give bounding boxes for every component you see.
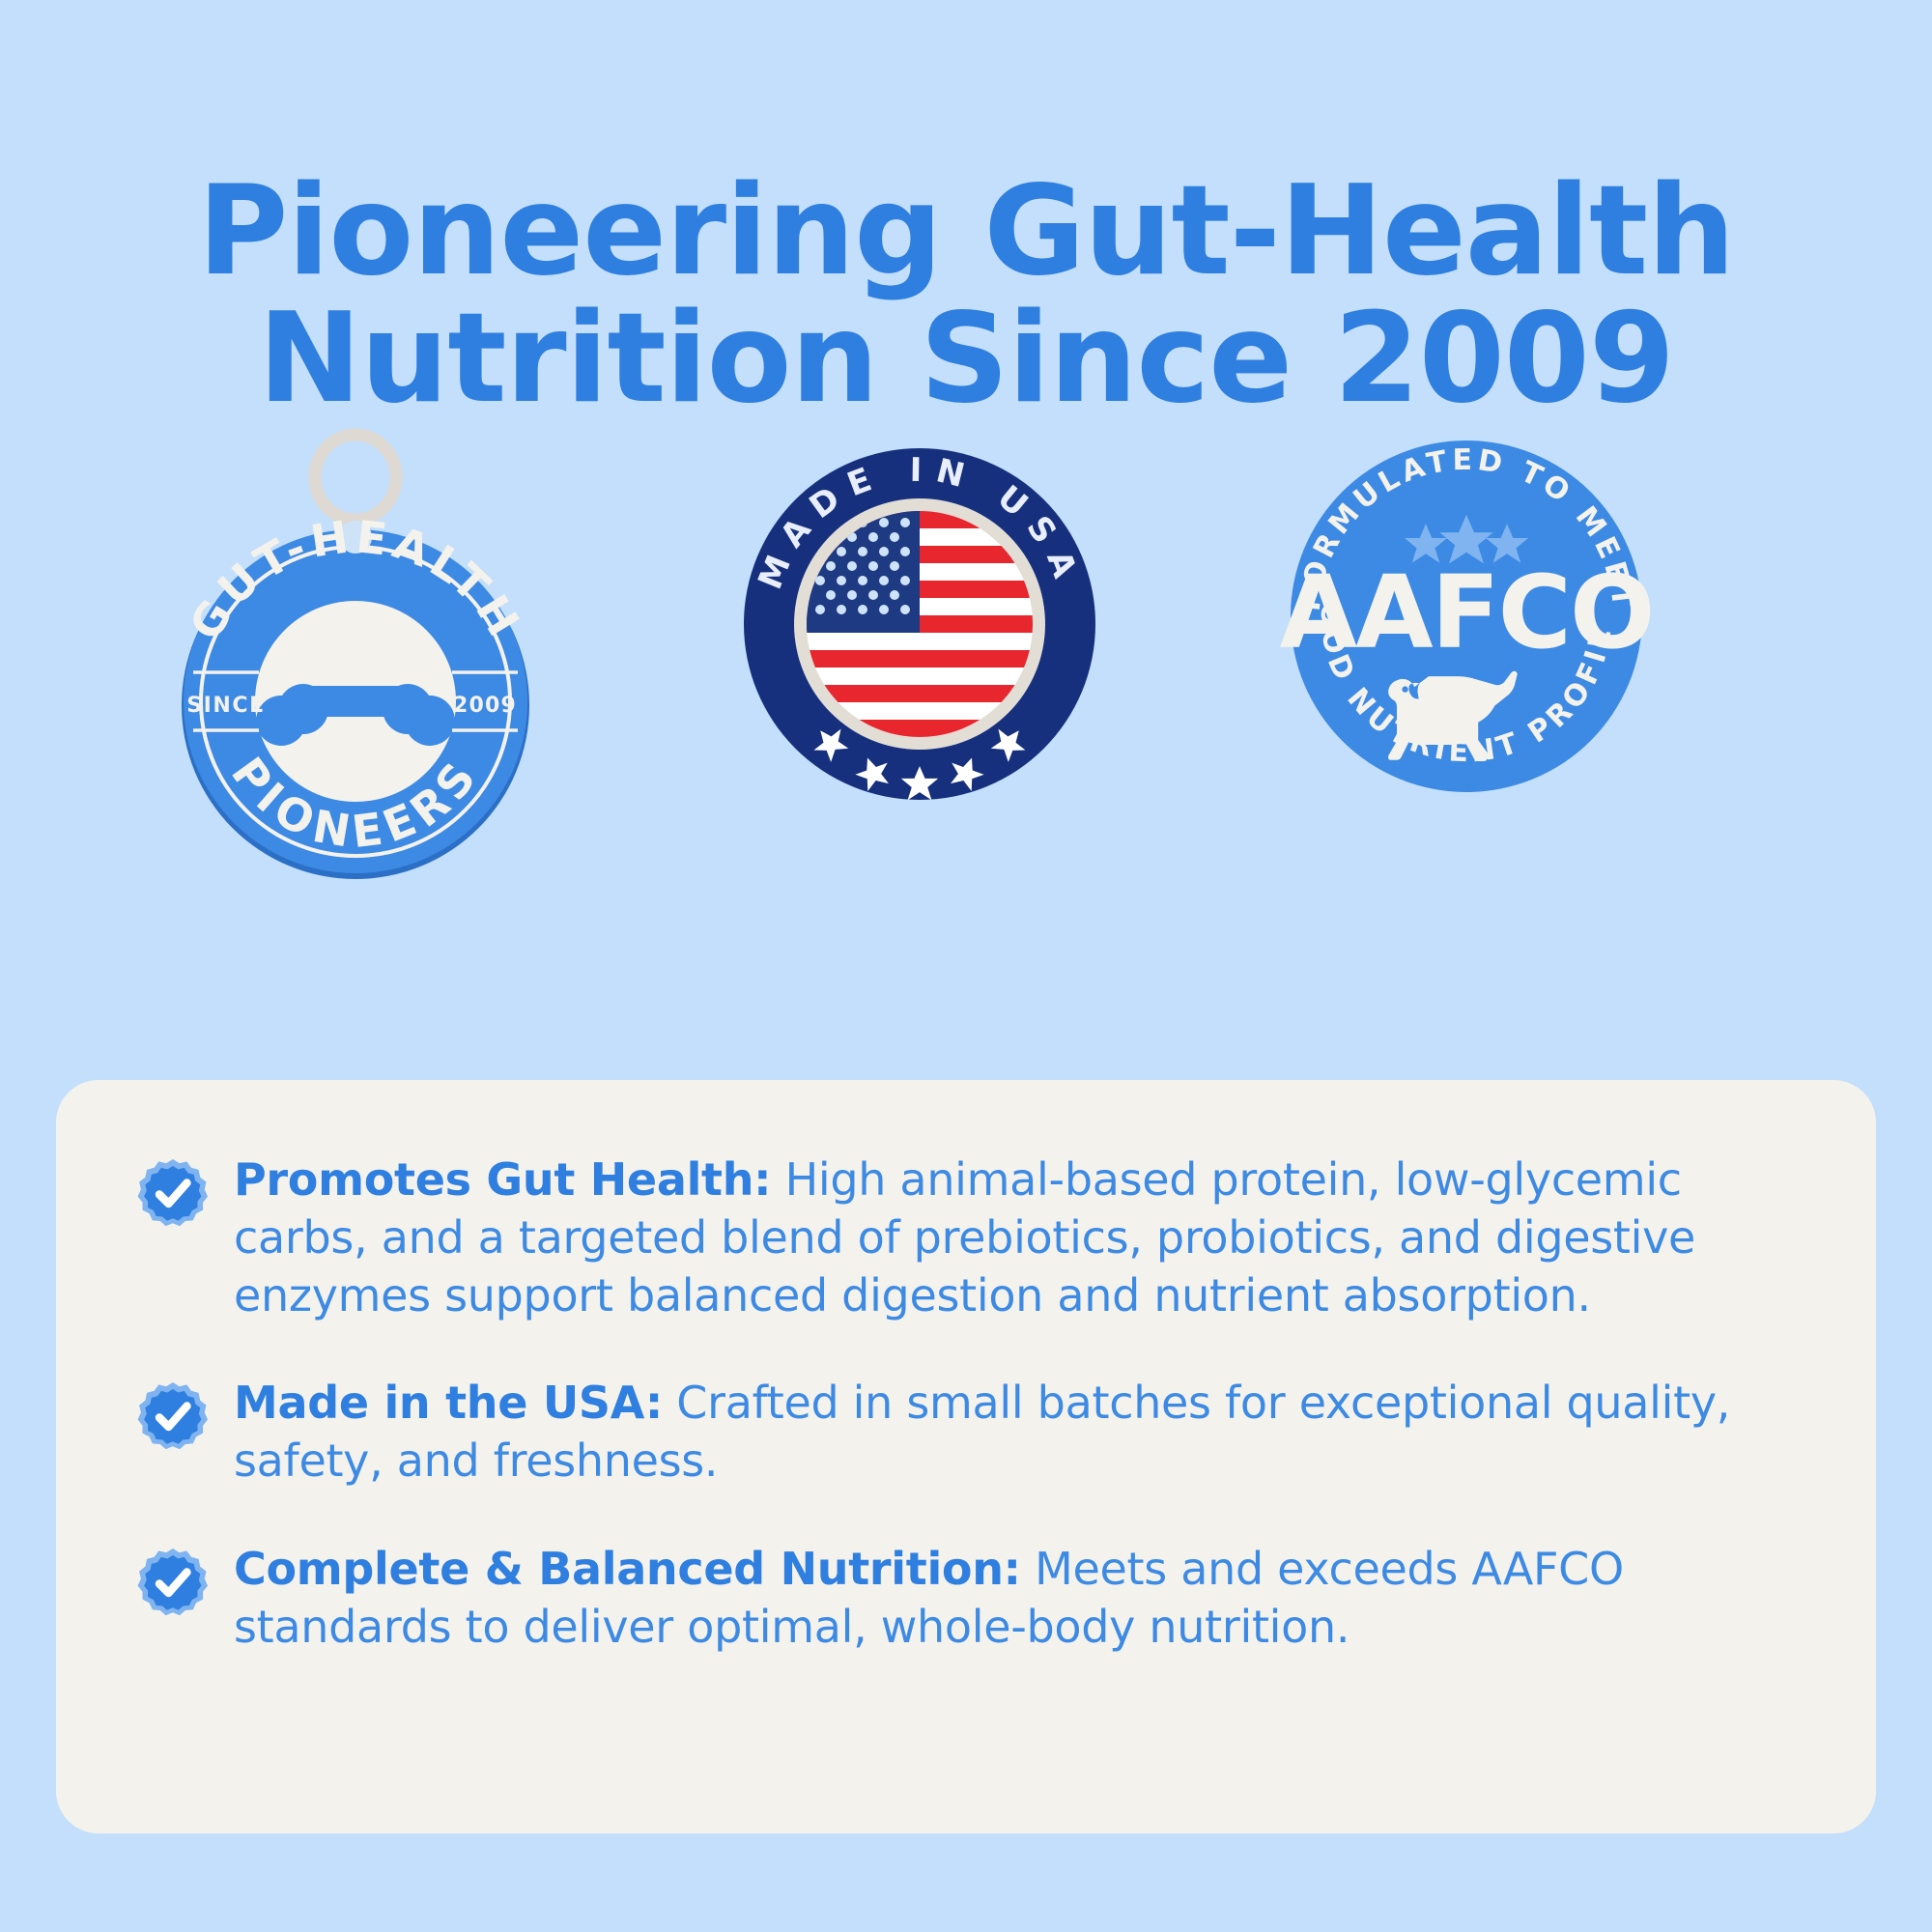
trust-badge-row: SINCE 2009 GUT-HEALTH PIONEERS bbox=[0, 446, 1932, 987]
list-item-lead: Complete & Balanced Nutrition: bbox=[234, 1543, 1021, 1595]
hang-tag-ring-icon bbox=[315, 435, 396, 520]
aafco-badge: AAFCO FORMULATED TO MEET FOOD NUTRIENT P… bbox=[1273, 423, 1660, 964]
badge-since-label: SINCE bbox=[186, 694, 266, 718]
infographic-page: Pioneering Gut-Health Nutrition Since 20… bbox=[0, 0, 1932, 1932]
benefits-list: Promotes Gut Health: High animal-based p… bbox=[137, 1151, 1795, 1657]
list-item: Made in the USA: Crafted in small batche… bbox=[137, 1375, 1795, 1491]
check-badge-icon bbox=[137, 1547, 209, 1618]
list-item-lead: Promotes Gut Health: bbox=[234, 1153, 771, 1206]
list-item: Promotes Gut Health: High animal-based p… bbox=[137, 1151, 1795, 1324]
list-item-lead: Made in the USA: bbox=[234, 1377, 663, 1429]
page-title-line-1: Pioneering Gut-Health bbox=[0, 168, 1932, 296]
list-item-text: Made in the USA: Crafted in small batche… bbox=[234, 1375, 1795, 1491]
list-item: Complete & Balanced Nutrition: Meets and… bbox=[137, 1541, 1795, 1657]
badge-year-label: 2009 bbox=[453, 694, 517, 718]
list-item-text: Promotes Gut Health: High animal-based p… bbox=[234, 1151, 1795, 1324]
benefits-card: Promotes Gut Health: High animal-based p… bbox=[56, 1080, 1876, 1833]
check-badge-icon bbox=[137, 1157, 209, 1229]
made-in-usa-badge: MADE IN USA bbox=[726, 431, 1113, 972]
list-item-text: Complete & Balanced Nutrition: Meets and… bbox=[234, 1541, 1795, 1657]
check-badge-icon bbox=[137, 1380, 209, 1452]
gut-health-pioneers-badge: SINCE 2009 GUT-HEALTH PIONEERS bbox=[143, 377, 568, 976]
usa-flag-icon bbox=[807, 511, 1033, 737]
